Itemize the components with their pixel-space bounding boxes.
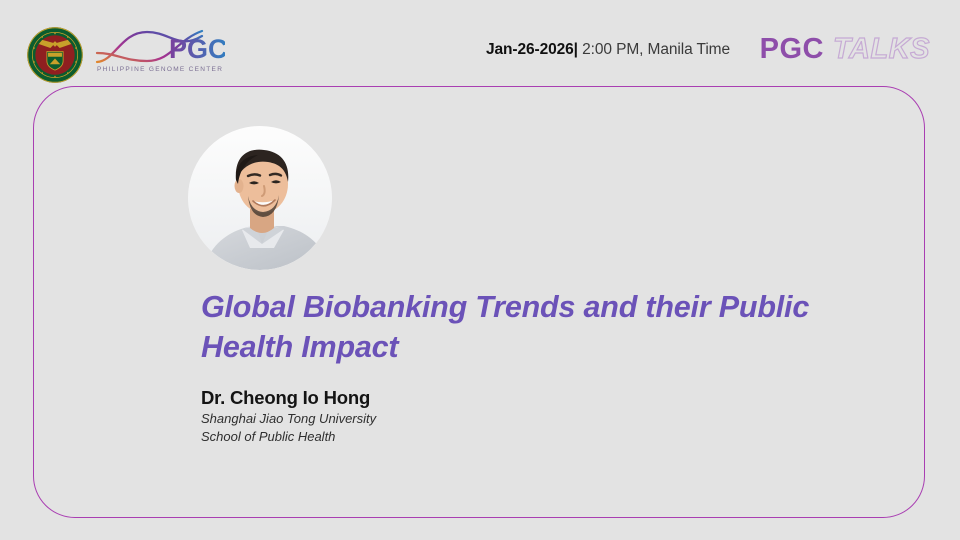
event-time: 2:00 PM, Manila Time <box>582 41 730 58</box>
svg-text:PGC: PGC <box>169 34 225 64</box>
speaker-avatar-photo <box>188 126 332 270</box>
affiliation-line-1: Shanghai Jiao Tong University <box>201 410 376 428</box>
talk-title: Global Biobanking Trends and their Publi… <box>201 287 811 368</box>
pgc-dna-logo-icon: PGC PHILIPPINE GENOME CENTER <box>95 28 225 74</box>
brand-talks-text: TALKS <box>833 35 930 64</box>
talk-announcement-card: Global Biobanking Trends and their Publi… <box>33 86 925 518</box>
affiliation-line-2: School of Public Health <box>201 428 376 446</box>
svg-text:PHILIPPINE GENOME CENTER: PHILIPPINE GENOME CENTER <box>97 66 223 73</box>
event-datetime: Jan-26-2026| 2:00 PM, Manila Time <box>486 41 730 59</box>
event-date: Jan-26-2026 <box>486 41 574 58</box>
up-seal-icon <box>26 26 84 84</box>
speaker-name: Dr. Cheong Io Hong <box>201 387 370 409</box>
speaker-affiliation: Shanghai Jiao Tong University School of … <box>201 410 376 447</box>
pgc-talks-brand: PGC TALKS <box>760 32 930 66</box>
brand-pgc-text: PGC <box>760 35 824 64</box>
datetime-separator: | <box>574 41 578 58</box>
page-header: PGC PHILIPPINE GENOME CENTER Jan-26-2026… <box>0 0 960 86</box>
